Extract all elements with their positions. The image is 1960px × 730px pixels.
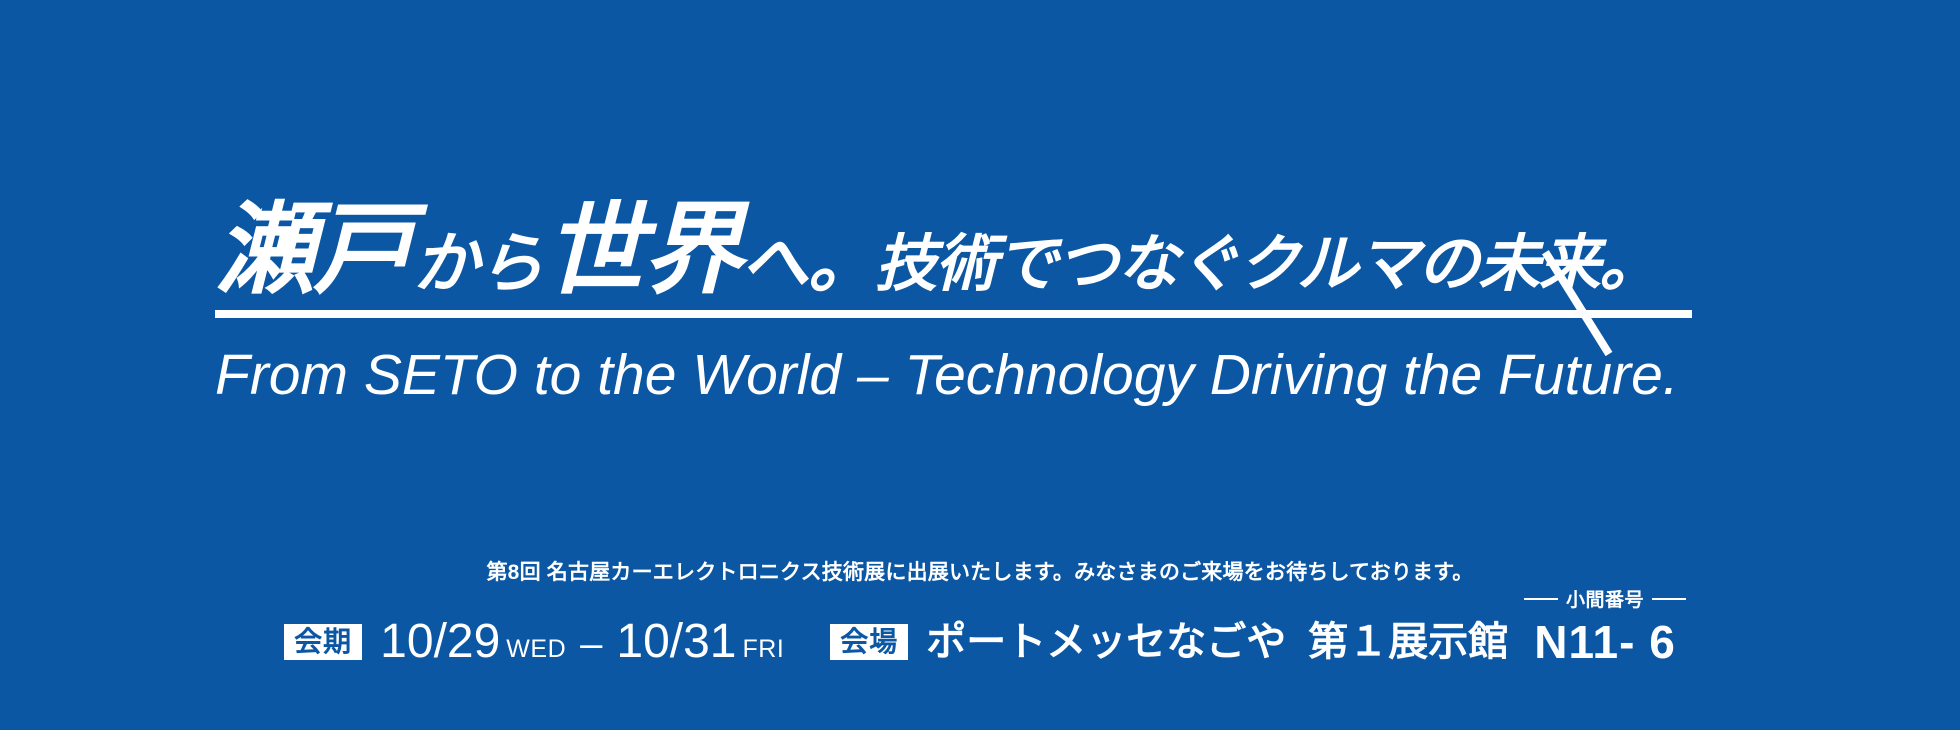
caption-rule-left-icon — [1524, 598, 1558, 600]
start-date: 10/29 — [380, 618, 500, 666]
headline-part-kara: から — [411, 230, 545, 296]
info-row: 会期 10/29 WED – 10/31 FRI 会場 ポートメッセなごや 第１… — [0, 618, 1960, 666]
period-badge: 会期 — [284, 624, 362, 660]
venue-hall: 第１展示館 — [1308, 622, 1508, 662]
period-dates: 10/29 WED – 10/31 FRI — [380, 618, 784, 666]
start-dow: WED — [506, 635, 566, 664]
venue-name: ポートメッセなごや — [926, 622, 1286, 662]
headline-block: 瀬戸 から 世界 へ。 技術でつなぐクルマの未来。 From SETO to t… — [215, 196, 1775, 406]
booth-block: 小間番号 N11- 6 — [1534, 619, 1676, 665]
event-banner: 瀬戸 から 世界 へ。 技術でつなぐクルマの未来。 From SETO to t… — [0, 0, 1960, 730]
subtitle: From SETO to the World – Technology Driv… — [215, 346, 1775, 406]
body-text: 第8回 名古屋カーエレクトロニクス技術展に出展いたします。みなさまのご来場をお待… — [0, 556, 1960, 586]
end-date: 10/31 — [616, 618, 736, 666]
caption-rule-right-icon — [1652, 598, 1686, 600]
end-dow: FRI — [743, 635, 785, 664]
headline-part-seto: 瀬戸 — [215, 200, 411, 300]
date-separator: – — [580, 624, 602, 664]
headline-rule-wrap — [215, 310, 1692, 336]
booth-number: N11- 6 — [1534, 619, 1676, 665]
headline-part-future: 技術でつなぐクルマの未来。 — [875, 234, 1660, 296]
headline-part-he: へ。 — [741, 229, 875, 297]
booth-caption-label: 小間番号 — [1566, 585, 1644, 612]
booth-caption: 小間番号 — [1524, 585, 1686, 612]
headline: 瀬戸 から 世界 へ。 技術でつなぐクルマの未来。 — [215, 196, 1775, 300]
venue-badge: 会場 — [830, 624, 908, 660]
headline-part-sekai: 世界 — [545, 200, 741, 300]
headline-underline — [215, 310, 1692, 318]
